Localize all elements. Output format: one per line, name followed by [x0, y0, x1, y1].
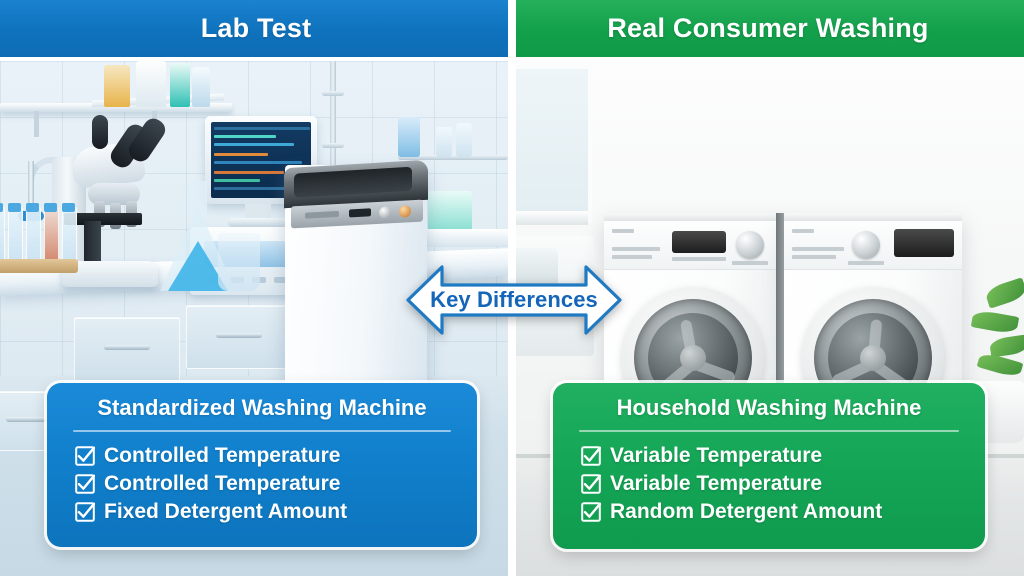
list-item: Fixed Detergent Amount: [75, 498, 477, 526]
washer-lid-glass: [294, 167, 412, 198]
drum-hub: [860, 345, 886, 371]
checkbox-checked-icon: [75, 446, 95, 466]
list-item-label: Variable Temperature: [610, 470, 822, 498]
screen-data-row: [214, 143, 294, 146]
list-item-label: Fixed Detergent Amount: [104, 498, 347, 526]
checkbox-checked-icon: [581, 474, 601, 494]
program-dial: [852, 231, 880, 259]
flask-small: [436, 127, 452, 157]
button-row: [732, 261, 768, 265]
reagent-bottle: [104, 65, 130, 107]
feature-list-left: Controlled Temperature Controlled Temper…: [47, 442, 477, 526]
round-flask: [218, 233, 260, 291]
list-item-label: Variable Temperature: [610, 442, 822, 470]
list-item: Variable Temperature: [581, 470, 985, 498]
window: [516, 65, 592, 223]
program-label: [792, 247, 844, 251]
button-row: [672, 257, 726, 261]
key-differences-badge: Key Differences: [404, 263, 624, 337]
screen-data-row: [214, 171, 284, 174]
washer-display: [672, 231, 726, 253]
list-item-label: Controlled Temperature: [104, 442, 340, 470]
program-label: [612, 255, 652, 259]
list-item-label: Random Detergent Amount: [610, 498, 882, 526]
screen-data-row: [214, 135, 276, 138]
checkbox-checked-icon: [75, 502, 95, 522]
button-row: [848, 261, 884, 265]
wall-pipe-clamp: [322, 91, 344, 96]
screen-data-row: [214, 153, 268, 156]
card-divider-right: [579, 430, 959, 432]
program-label: [612, 247, 660, 251]
checkbox-checked-icon: [75, 474, 95, 494]
drum-hub: [680, 345, 706, 371]
wall-pipe: [330, 61, 336, 181]
brand-label: [792, 229, 814, 233]
test-tube-cap: [62, 203, 75, 212]
list-item: Variable Temperature: [581, 442, 985, 470]
reagent-bottle: [136, 61, 166, 107]
header-bar-left: Lab Test: [0, 0, 512, 57]
monitor-base: [228, 218, 290, 227]
test-tube-cap: [26, 203, 39, 212]
header-bar-right: Real Consumer Washing: [512, 0, 1024, 57]
card-title-right: Household Washing Machine: [563, 395, 975, 421]
header-gap: [0, 57, 1024, 61]
header-title-right: Real Consumer Washing: [607, 13, 928, 44]
wall-cabinet-shelf: [516, 211, 588, 225]
list-item-label: Controlled Temperature: [104, 470, 340, 498]
microscope-tube: [92, 115, 108, 149]
checkbox-checked-icon: [581, 446, 601, 466]
program-dial: [736, 231, 764, 259]
reagent-bottle: [170, 63, 190, 107]
card-title-left: Standardized Washing Machine: [57, 395, 467, 421]
test-tube-cap: [44, 203, 57, 212]
program-label: [792, 255, 836, 259]
card-household-washing-machine: Household Washing Machine Variable Tempe…: [553, 383, 985, 549]
wash-bottle: [398, 117, 420, 157]
card-divider-left: [73, 430, 451, 432]
washer-display: [894, 229, 954, 257]
washer-top-panel: [604, 213, 782, 221]
wall-pipe-clamp: [322, 143, 344, 148]
list-item: Controlled Temperature: [75, 442, 477, 470]
flask-small: [456, 123, 472, 157]
test-tube-cap: [0, 203, 3, 212]
washer-control-panel: [784, 221, 962, 270]
brand-label: [612, 229, 634, 233]
reagent-bottle: [192, 67, 210, 107]
washer-knob: [379, 206, 391, 219]
list-item: Controlled Temperature: [75, 470, 477, 498]
test-tube-rack: [0, 259, 78, 273]
screen-data-row: [214, 127, 310, 130]
feature-list-right: Variable Temperature Variable Temperatur…: [553, 442, 985, 526]
card-standardized-washing-machine: Standardized Washing Machine Controlled …: [47, 383, 477, 547]
checkbox-checked-icon: [581, 502, 601, 522]
washer-brand-plate: [305, 211, 339, 219]
test-tube-cap: [8, 203, 21, 212]
washer-knob: [399, 205, 411, 218]
drawer-handle: [216, 333, 262, 338]
washer-top-panel: [784, 213, 962, 221]
key-differences-label: Key Differences: [404, 263, 624, 337]
comparison-infographic: Lab Test Standardized Washing Machine Co…: [0, 0, 1024, 576]
header-title-left: Lab Test: [201, 13, 312, 44]
screen-data-row: [214, 161, 302, 164]
drawer-handle: [104, 345, 150, 350]
washer-control-panel: [604, 221, 782, 270]
washer-display: [349, 208, 371, 217]
shelf-bracket: [34, 111, 39, 137]
list-item: Random Detergent Amount: [581, 498, 985, 526]
